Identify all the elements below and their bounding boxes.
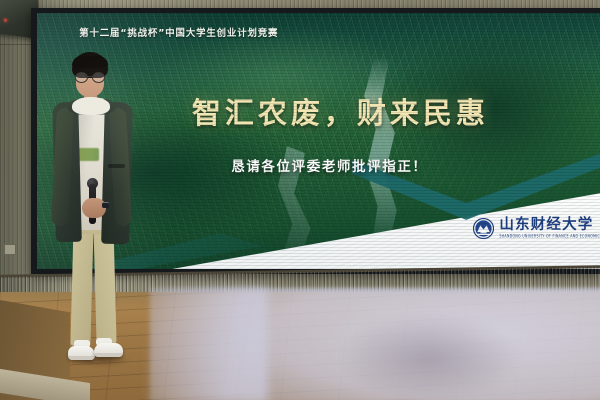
university-emblem-icon xyxy=(473,218,494,239)
speaker-led-indicator xyxy=(4,19,7,22)
university-name-en: SHANDONG UNIVERSITY OF FINANCE AND ECONO… xyxy=(499,235,600,239)
presentation-photo-scene: 第十二届“挑战杯”中国大学生创业计划竞赛 智汇农废，财来民惠 恳请各位评委老师批… xyxy=(0,0,600,400)
presenter-left-shoe-sole xyxy=(68,356,95,360)
presenter-wristwatch xyxy=(102,202,109,208)
presenter-jacket-pocket xyxy=(108,164,125,168)
university-logo: 山东财经大学 SHANDONG UNIVERSITY OF FINANCE AN… xyxy=(473,218,600,239)
presenter-left-leg xyxy=(70,224,93,346)
university-name-cn: 山东财经大学 xyxy=(499,218,600,233)
wall-outlet xyxy=(4,244,16,255)
presenter-glasses-icon xyxy=(75,72,105,81)
presenter-hood xyxy=(72,97,110,115)
university-wordmark: 山东财经大学 SHANDONG UNIVERSITY OF FINANCE AN… xyxy=(499,218,600,238)
glasses-left-lens xyxy=(75,72,88,83)
floor-soft-shadow xyxy=(330,316,530,400)
glasses-right-lens xyxy=(92,72,105,83)
slide-title: 智汇农废，财来民惠 xyxy=(192,90,489,132)
presenter-hands xyxy=(82,198,106,218)
slide-competition-header: 第十二届“挑战杯”中国大学生创业计划竞赛 xyxy=(79,25,278,39)
presenter-right-shoe-sole xyxy=(94,353,123,357)
floor-light-edge xyxy=(148,288,268,400)
glasses-bridge xyxy=(86,76,94,77)
presenter xyxy=(46,52,154,370)
slide-subtitle: 恳请各位评委老师批评指正！ xyxy=(231,155,427,175)
presenter-hair-fringe xyxy=(72,56,108,68)
